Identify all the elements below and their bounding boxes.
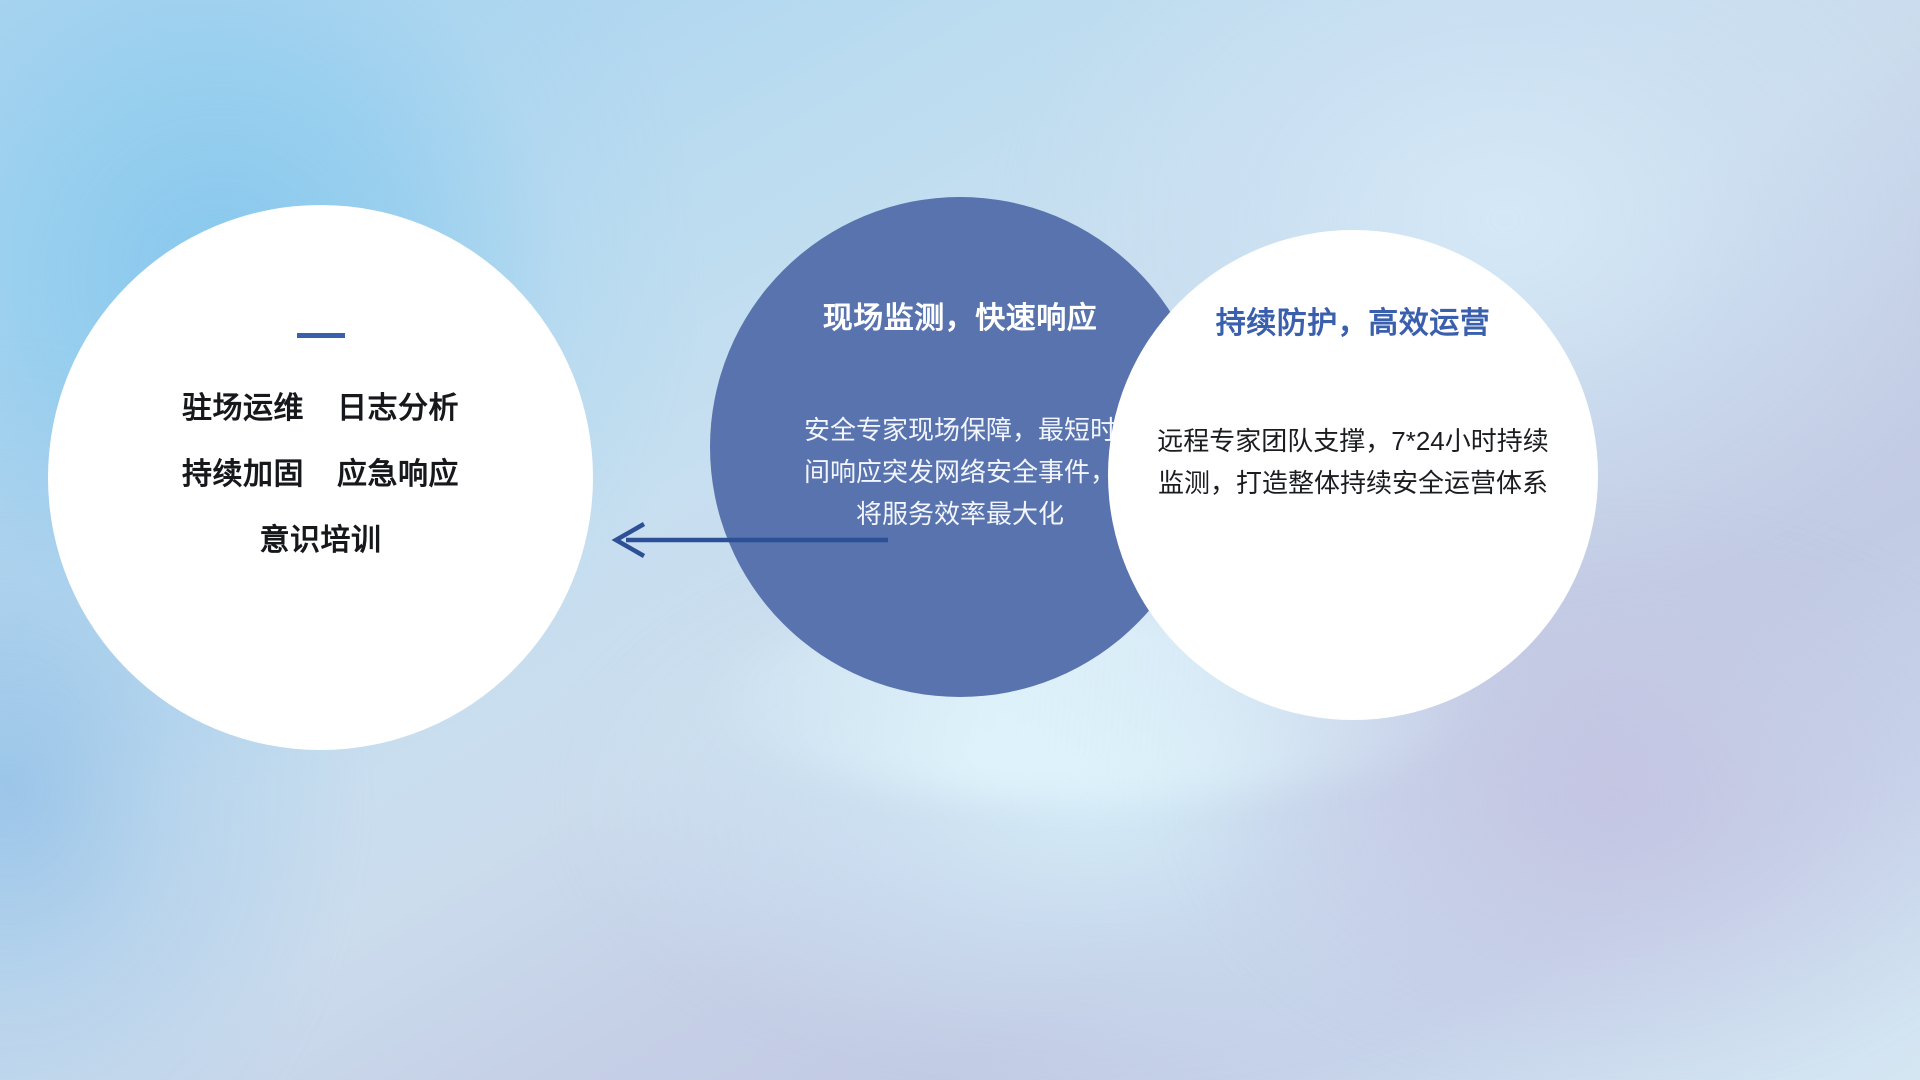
middle-circle-content: 现场监测，快速响应 安全专家现场保障，最短时间响应突发网络安全事件，将服务效率最…: [760, 293, 1160, 535]
keyword-item: 意识培训: [260, 515, 382, 559]
right-circle-body: 远程专家团队支撑，7*24小时持续监测，打造整体持续安全运营体系: [1147, 420, 1559, 504]
keyword-item: 应急响应: [337, 449, 459, 493]
accent-dash-icon: [297, 333, 345, 338]
keyword-item: 驻场运维: [182, 383, 304, 427]
keyword-row: 意识培训: [260, 515, 382, 559]
keyword-row: 驻场运维 日志分析: [182, 383, 459, 427]
left-circle-content: 驻场运维 日志分析 持续加固 应急响应 意识培训: [48, 333, 593, 559]
left-arrow-icon: [600, 508, 890, 572]
keyword-row: 持续加固 应急响应: [182, 449, 459, 493]
keyword-list: 驻场运维 日志分析 持续加固 应急响应 意识培训: [182, 383, 459, 559]
right-circle-title: 持续防护，高效运营: [1216, 298, 1491, 342]
keyword-item: 日志分析: [337, 383, 459, 427]
slide-canvas: 驻场运维 日志分析 持续加固 应急响应 意识培训 现场监测，快速响应 安全专家现…: [0, 0, 1920, 1080]
right-circle-content: 持续防护，高效运营 远程专家团队支撑，7*24小时持续监测，打造整体持续安全运营…: [1108, 298, 1598, 504]
keyword-item: 持续加固: [182, 449, 304, 493]
capability-circle-right[interactable]: 持续防护，高效运营 远程专家团队支撑，7*24小时持续监测，打造整体持续安全运营…: [1108, 230, 1598, 720]
middle-circle-title: 现场监测，快速响应: [823, 293, 1098, 337]
capability-circle-left[interactable]: 驻场运维 日志分析 持续加固 应急响应 意识培训: [48, 205, 593, 750]
